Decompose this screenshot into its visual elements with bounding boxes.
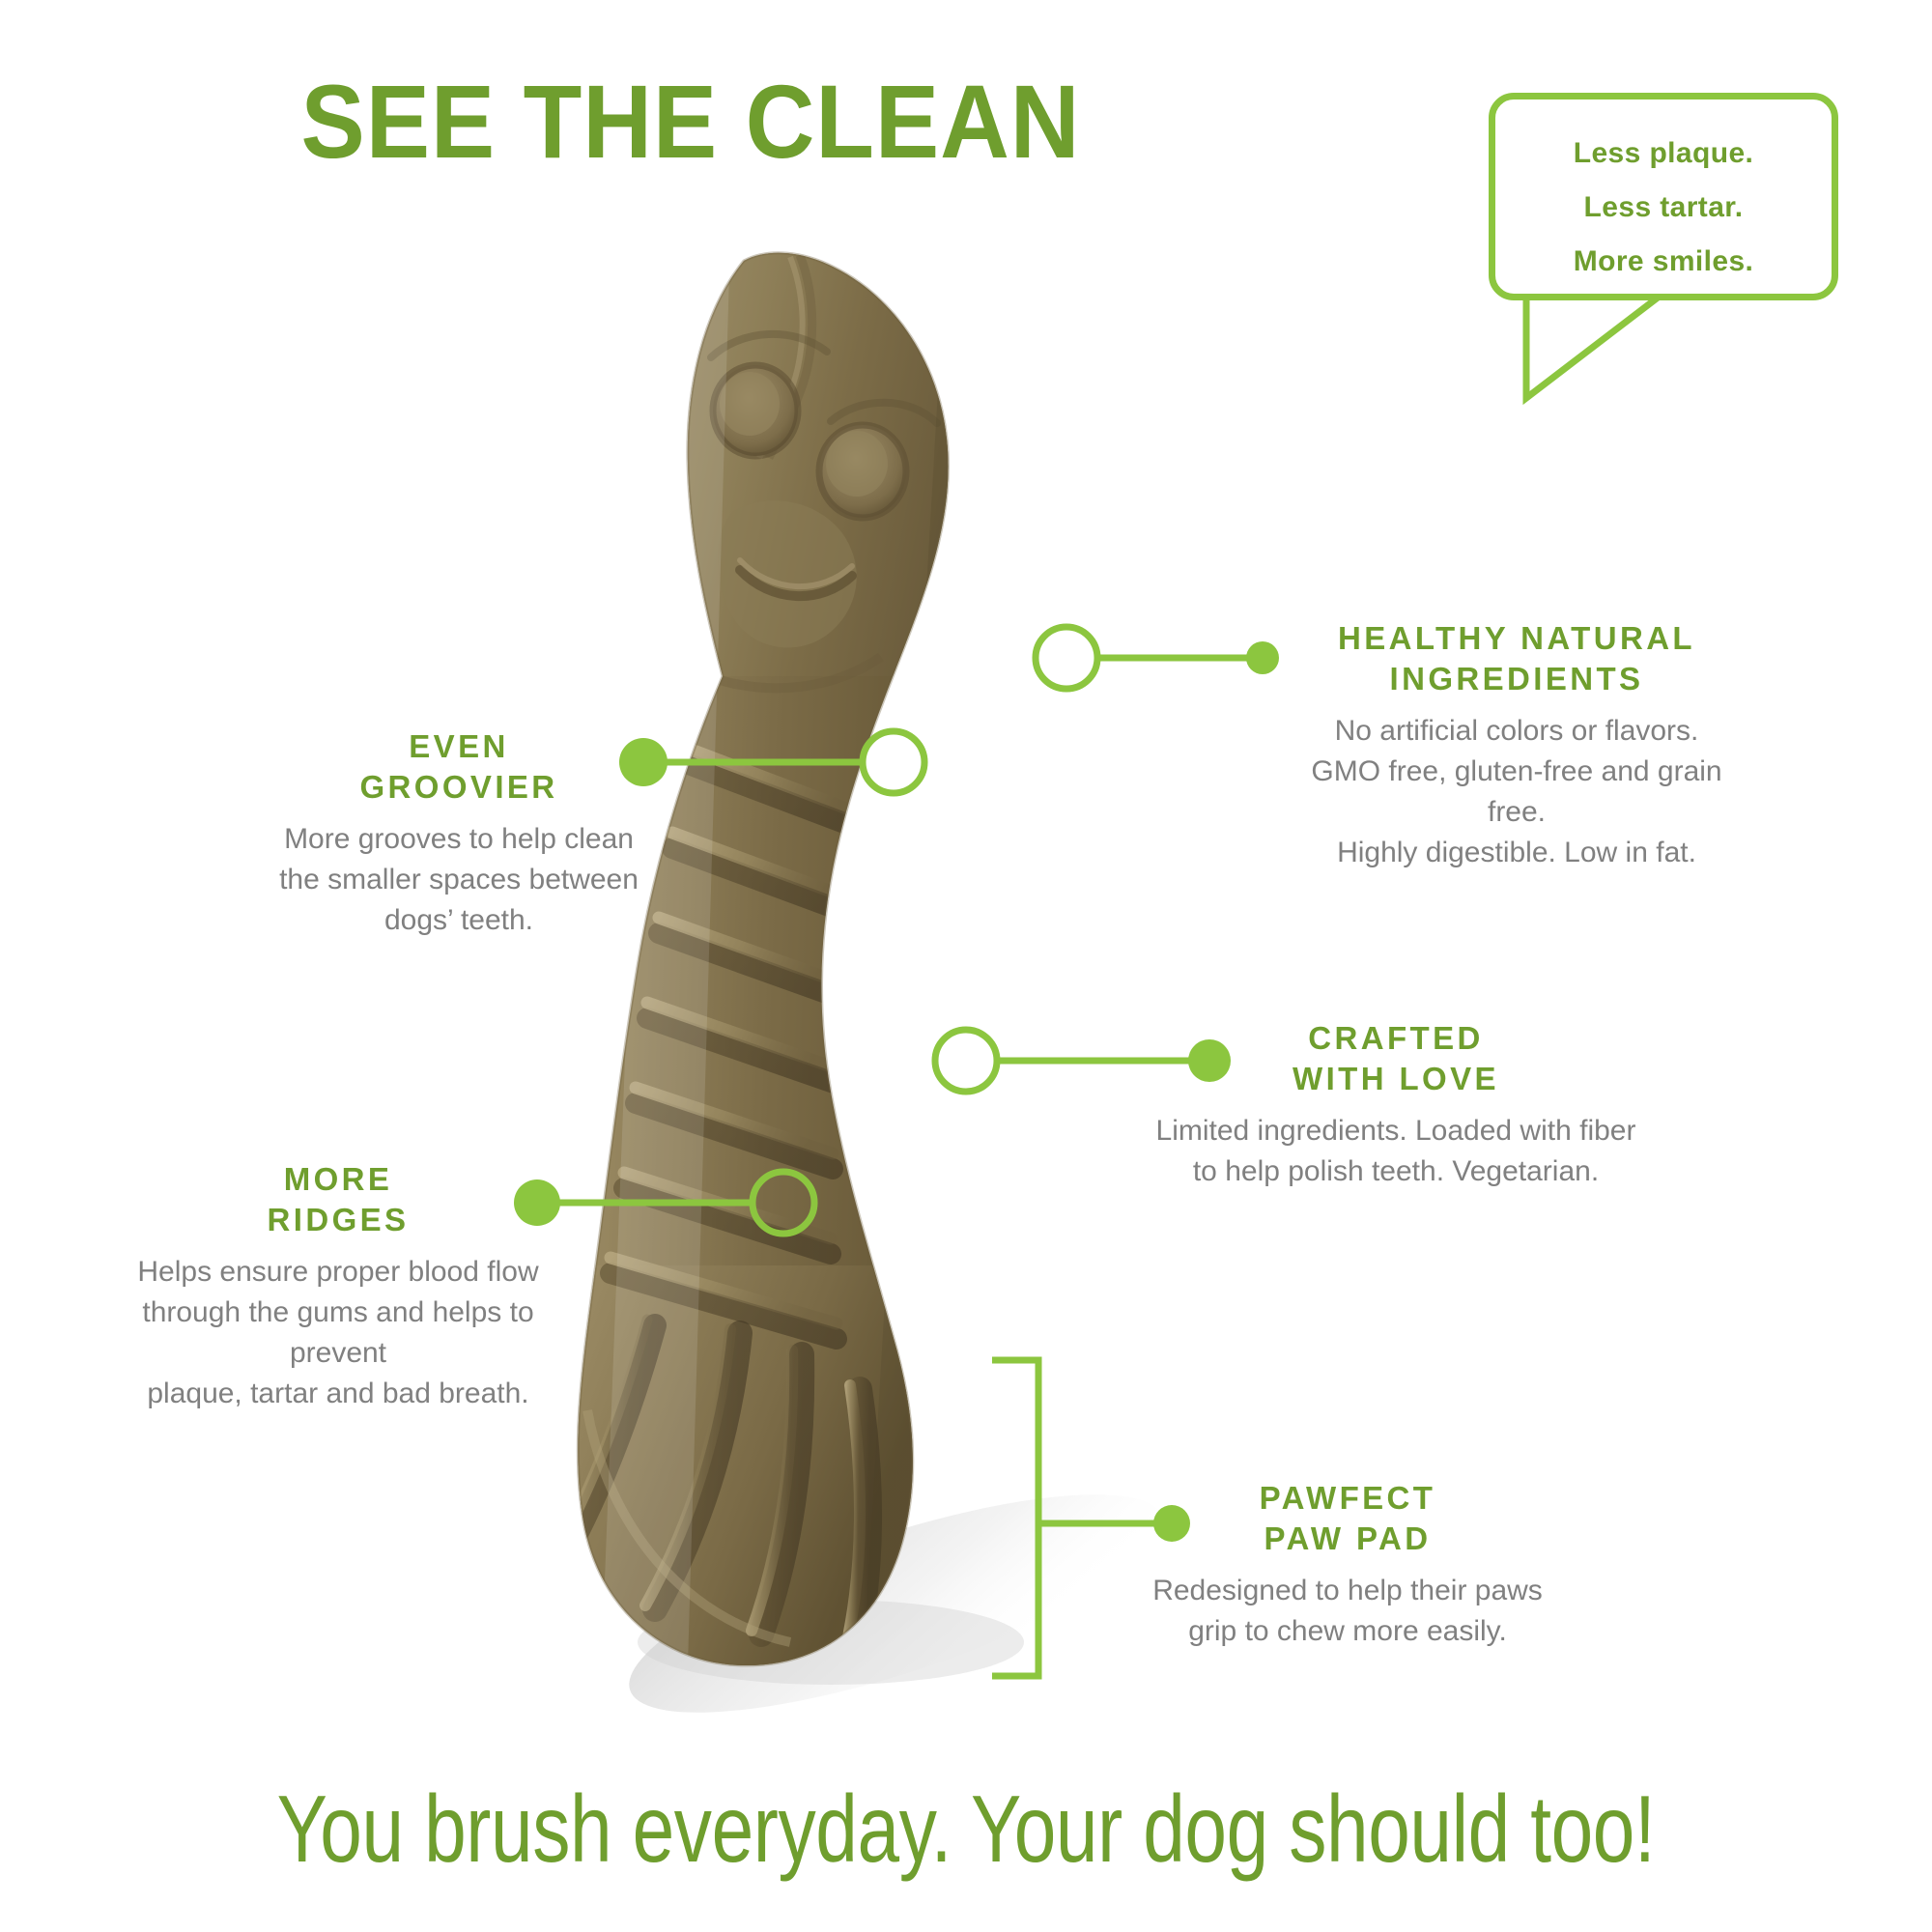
- callout-healthy-natural-ingredients: HEALTHY NATURAL INGREDIENTS No artificia…: [1280, 618, 1753, 873]
- footer-tagline: You brush everyday. Your dog should too!: [193, 1779, 1739, 1879]
- callout-heading: MORE RIDGES: [135, 1159, 541, 1240]
- speech-bubble-line-1: Less plaque.: [1495, 127, 1832, 181]
- callout-crafted-with-love: CRAFTED WITH LOVE Limited ingredients. L…: [1145, 1018, 1647, 1192]
- callout-body: Redesigned to help their paws grip to ch…: [1145, 1571, 1550, 1652]
- callout-heading: HEALTHY NATURAL INGREDIENTS: [1280, 618, 1753, 699]
- callout-heading: EVEN GROOVIER: [261, 726, 657, 808]
- page-title: SEE THE CLEAN: [55, 70, 1326, 174]
- callout-body: Helps ensure proper blood flow through t…: [135, 1252, 541, 1414]
- product-image-dental-chew: [541, 222, 1217, 1729]
- speech-bubble-text: Less plaque. Less tartar. More smiles.: [1495, 127, 1832, 289]
- product-body: [551, 241, 995, 1729]
- speech-bubble-line-3: More smiles.: [1495, 235, 1832, 289]
- callout-heading: PAWFECT PAW PAD: [1145, 1478, 1550, 1559]
- callout-body: Limited ingredients. Loaded with fiber t…: [1145, 1111, 1647, 1192]
- speech-bubble-line-2: Less tartar.: [1495, 181, 1832, 235]
- callout-pawfect-paw-pad: PAWFECT PAW PAD Redesigned to help their…: [1145, 1478, 1550, 1652]
- speech-bubble: Less plaque. Less tartar. More smiles.: [1489, 93, 1838, 300]
- callout-body: More grooves to help clean the smaller s…: [261, 819, 657, 941]
- callout-heading: CRAFTED WITH LOVE: [1145, 1018, 1647, 1099]
- infographic-page: SEE THE CLEAN Less plaque. Less tartar. …: [0, 0, 1932, 1932]
- callout-more-ridges: MORE RIDGES Helps ensure proper blood fl…: [135, 1159, 541, 1414]
- callout-even-groovier: EVEN GROOVIER More grooves to help clean…: [261, 726, 657, 941]
- callout-body: No artificial colors or flavors. GMO fre…: [1280, 711, 1753, 873]
- speech-bubble-tail-icon: [1519, 290, 1683, 406]
